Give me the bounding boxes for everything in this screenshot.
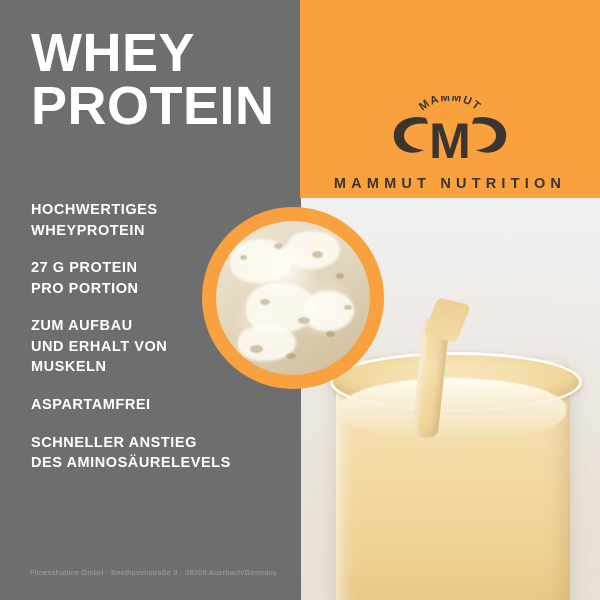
logo-arch-text: MAMMUT [417,96,483,113]
feature-line: ASPARTAMFREI [31,395,281,416]
powder-speck [260,299,270,305]
legal-fineprint: Fitnesshotline GmbH · Beethovenstraße 9 … [30,568,277,577]
shake-foam [340,378,566,438]
powder-speck [312,251,323,258]
pouring-stream-top [423,297,471,343]
powder-inset-photo [216,221,370,375]
powder-speck [298,317,310,324]
powder-speck [250,345,263,353]
powder-speck [336,273,344,279]
powder-speck [274,243,283,249]
brand-wordmark: MAMMUT NUTRITION [300,176,600,192]
title-line-1: WHEY [31,27,286,80]
page-title: WHEY PROTEIN [31,27,286,133]
feature-line: SCHNELLER ANSTIEG [31,433,281,454]
title-line-2: PROTEIN [31,80,286,133]
mammoth-logo-icon: MAMMUT M [388,96,512,162]
powder-lump [286,231,340,269]
powder-speck [240,255,247,260]
product-poster: WHEY PROTEIN HOCHWERTIGES WHEYPROTEIN 27… [0,0,600,600]
brand-logo: MAMMUT M MAMMUT NUTRITION [300,96,600,192]
logo-letter-m: M [429,113,471,162]
feature-line: HOCHWERTIGES [31,200,281,221]
powder-speck [344,305,352,310]
feature-line: DES AMINOSÄURELEVELS [31,453,281,474]
powder-speck [326,331,335,337]
powder-lump [304,291,354,331]
feature-item: ASPARTAMFREI [31,395,281,416]
powder-speck [286,353,296,359]
svg-text:MAMMUT: MAMMUT [417,96,483,113]
feature-item: SCHNELLER ANSTIEG DES AMINOSÄURELEVELS [31,433,281,474]
